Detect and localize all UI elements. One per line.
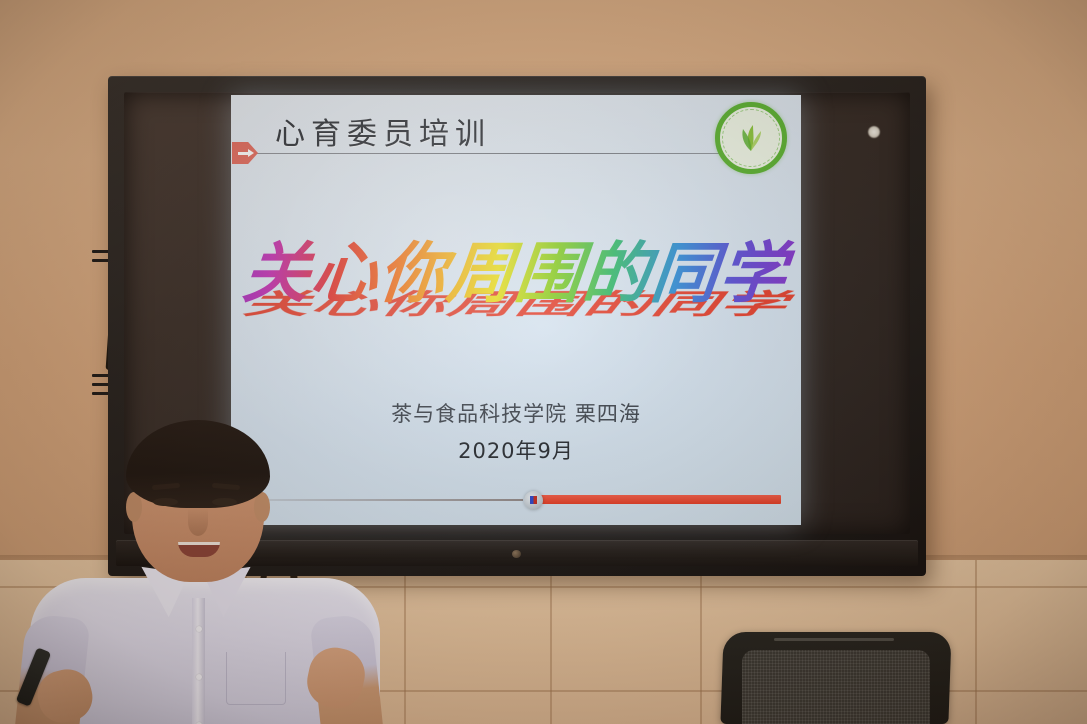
slide-headline: 关心你周围的同学 bbox=[231, 220, 801, 316]
title-underline bbox=[253, 153, 765, 154]
presenter-nose bbox=[188, 508, 208, 536]
presenter-eye-left bbox=[153, 498, 178, 506]
chair-mesh-back bbox=[742, 650, 930, 724]
slide-title: 心育委员培训 bbox=[275, 109, 491, 153]
display-mount-screw bbox=[512, 550, 521, 558]
shirt-button bbox=[196, 626, 202, 632]
progress-knob[interactable] bbox=[524, 491, 543, 510]
presenter-ear-right bbox=[254, 492, 270, 522]
chair-highlight bbox=[774, 638, 894, 641]
slide-headline-group: 关心你周围的同学 关心你周围的同学 bbox=[231, 220, 801, 350]
red-arrow-marker-icon bbox=[232, 142, 258, 164]
mesh-office-chair[interactable] bbox=[722, 632, 950, 724]
presenter-eye-right bbox=[212, 498, 237, 506]
shirt-placket bbox=[192, 598, 205, 724]
presenter-hair bbox=[126, 420, 270, 508]
shirt-button bbox=[196, 674, 202, 680]
photo-scene: 心育委员培训 关心你周围的同学 关心你周围的同学 茶与食品科技学院 栗四海 20… bbox=[0, 0, 1087, 724]
screen-reflection-dot bbox=[868, 126, 880, 138]
progress-fill bbox=[541, 495, 781, 504]
presenter bbox=[20, 420, 380, 724]
tea-food-college-emblem-icon bbox=[715, 102, 787, 174]
shirt-pocket bbox=[226, 652, 286, 705]
